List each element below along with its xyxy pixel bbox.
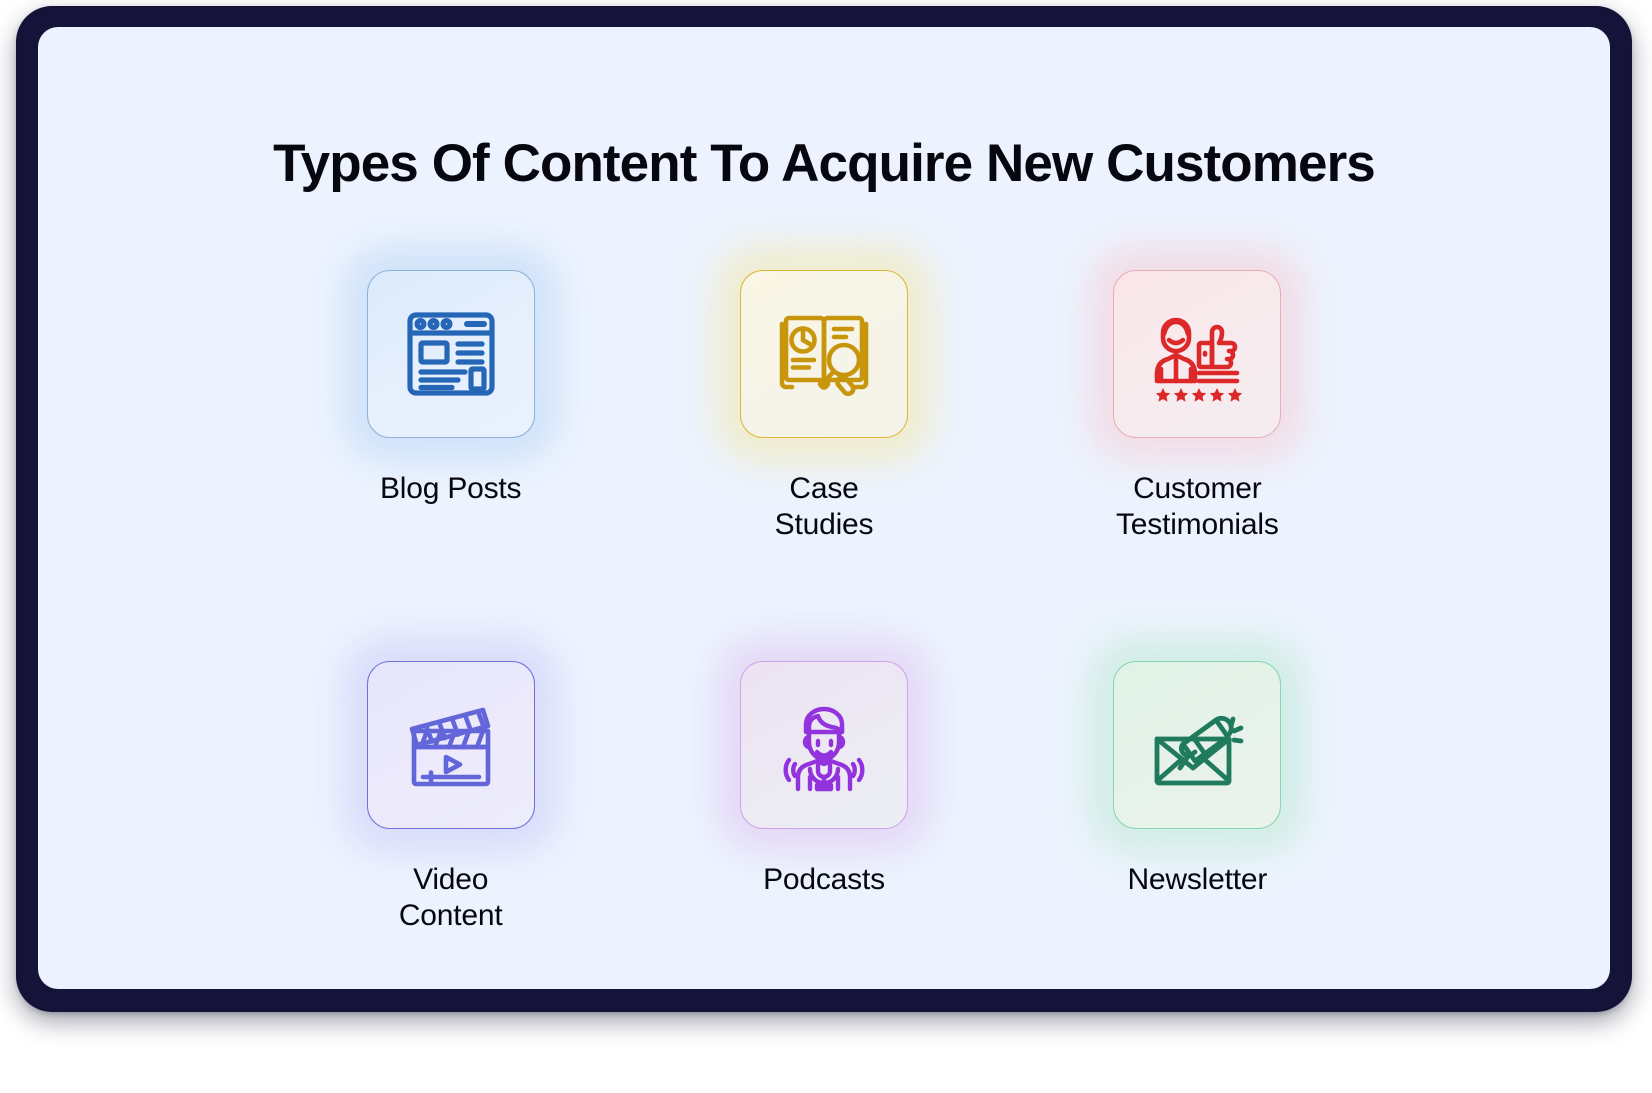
newsletter-icon-tile[interactable]	[1113, 661, 1281, 829]
content-card-label: Video Content	[399, 862, 503, 935]
content-card-label: Podcasts	[763, 862, 885, 898]
browser-window-article-icon	[403, 306, 499, 402]
page-title: Types Of Content To Acquire New Customer…	[38, 133, 1610, 194]
content-card-case-studies[interactable]: Case Studies	[637, 270, 1010, 544]
open-book-magnifier-icon	[776, 306, 872, 402]
infographic-panel: Types Of Content To Acquire New Customer…	[38, 27, 1610, 989]
content-card-label: Newsletter	[1127, 862, 1267, 898]
content-card-label: Blog Posts	[380, 471, 521, 507]
content-card-label: Customer Testimonials	[1116, 471, 1279, 544]
content-card-podcasts[interactable]: Podcasts	[637, 661, 1010, 935]
clapperboard-play-icon	[403, 697, 499, 793]
content-card-customer-testimonials[interactable]: Customer Testimonials	[1011, 270, 1384, 544]
case-studies-icon-tile[interactable]	[740, 270, 908, 438]
podcaster-microphone-icon	[776, 697, 872, 793]
blog-posts-icon-tile[interactable]	[367, 270, 535, 438]
content-card-newsletter[interactable]: Newsletter	[1011, 661, 1384, 935]
content-card-video-content[interactable]: Video Content	[264, 661, 637, 935]
video-content-icon-tile[interactable]	[367, 661, 535, 829]
customer-testimonials-icon-tile[interactable]	[1113, 270, 1281, 438]
content-type-grid: Blog Posts	[264, 270, 1384, 934]
device-frame: Types Of Content To Acquire New Customer…	[18, 8, 1630, 1010]
content-card-label: Case Studies	[775, 471, 874, 544]
podcasts-icon-tile[interactable]	[740, 661, 908, 829]
content-card-blog-posts[interactable]: Blog Posts	[264, 270, 637, 544]
person-thumbs-up-stars-icon	[1149, 306, 1245, 402]
envelope-megaphone-icon	[1149, 697, 1245, 793]
